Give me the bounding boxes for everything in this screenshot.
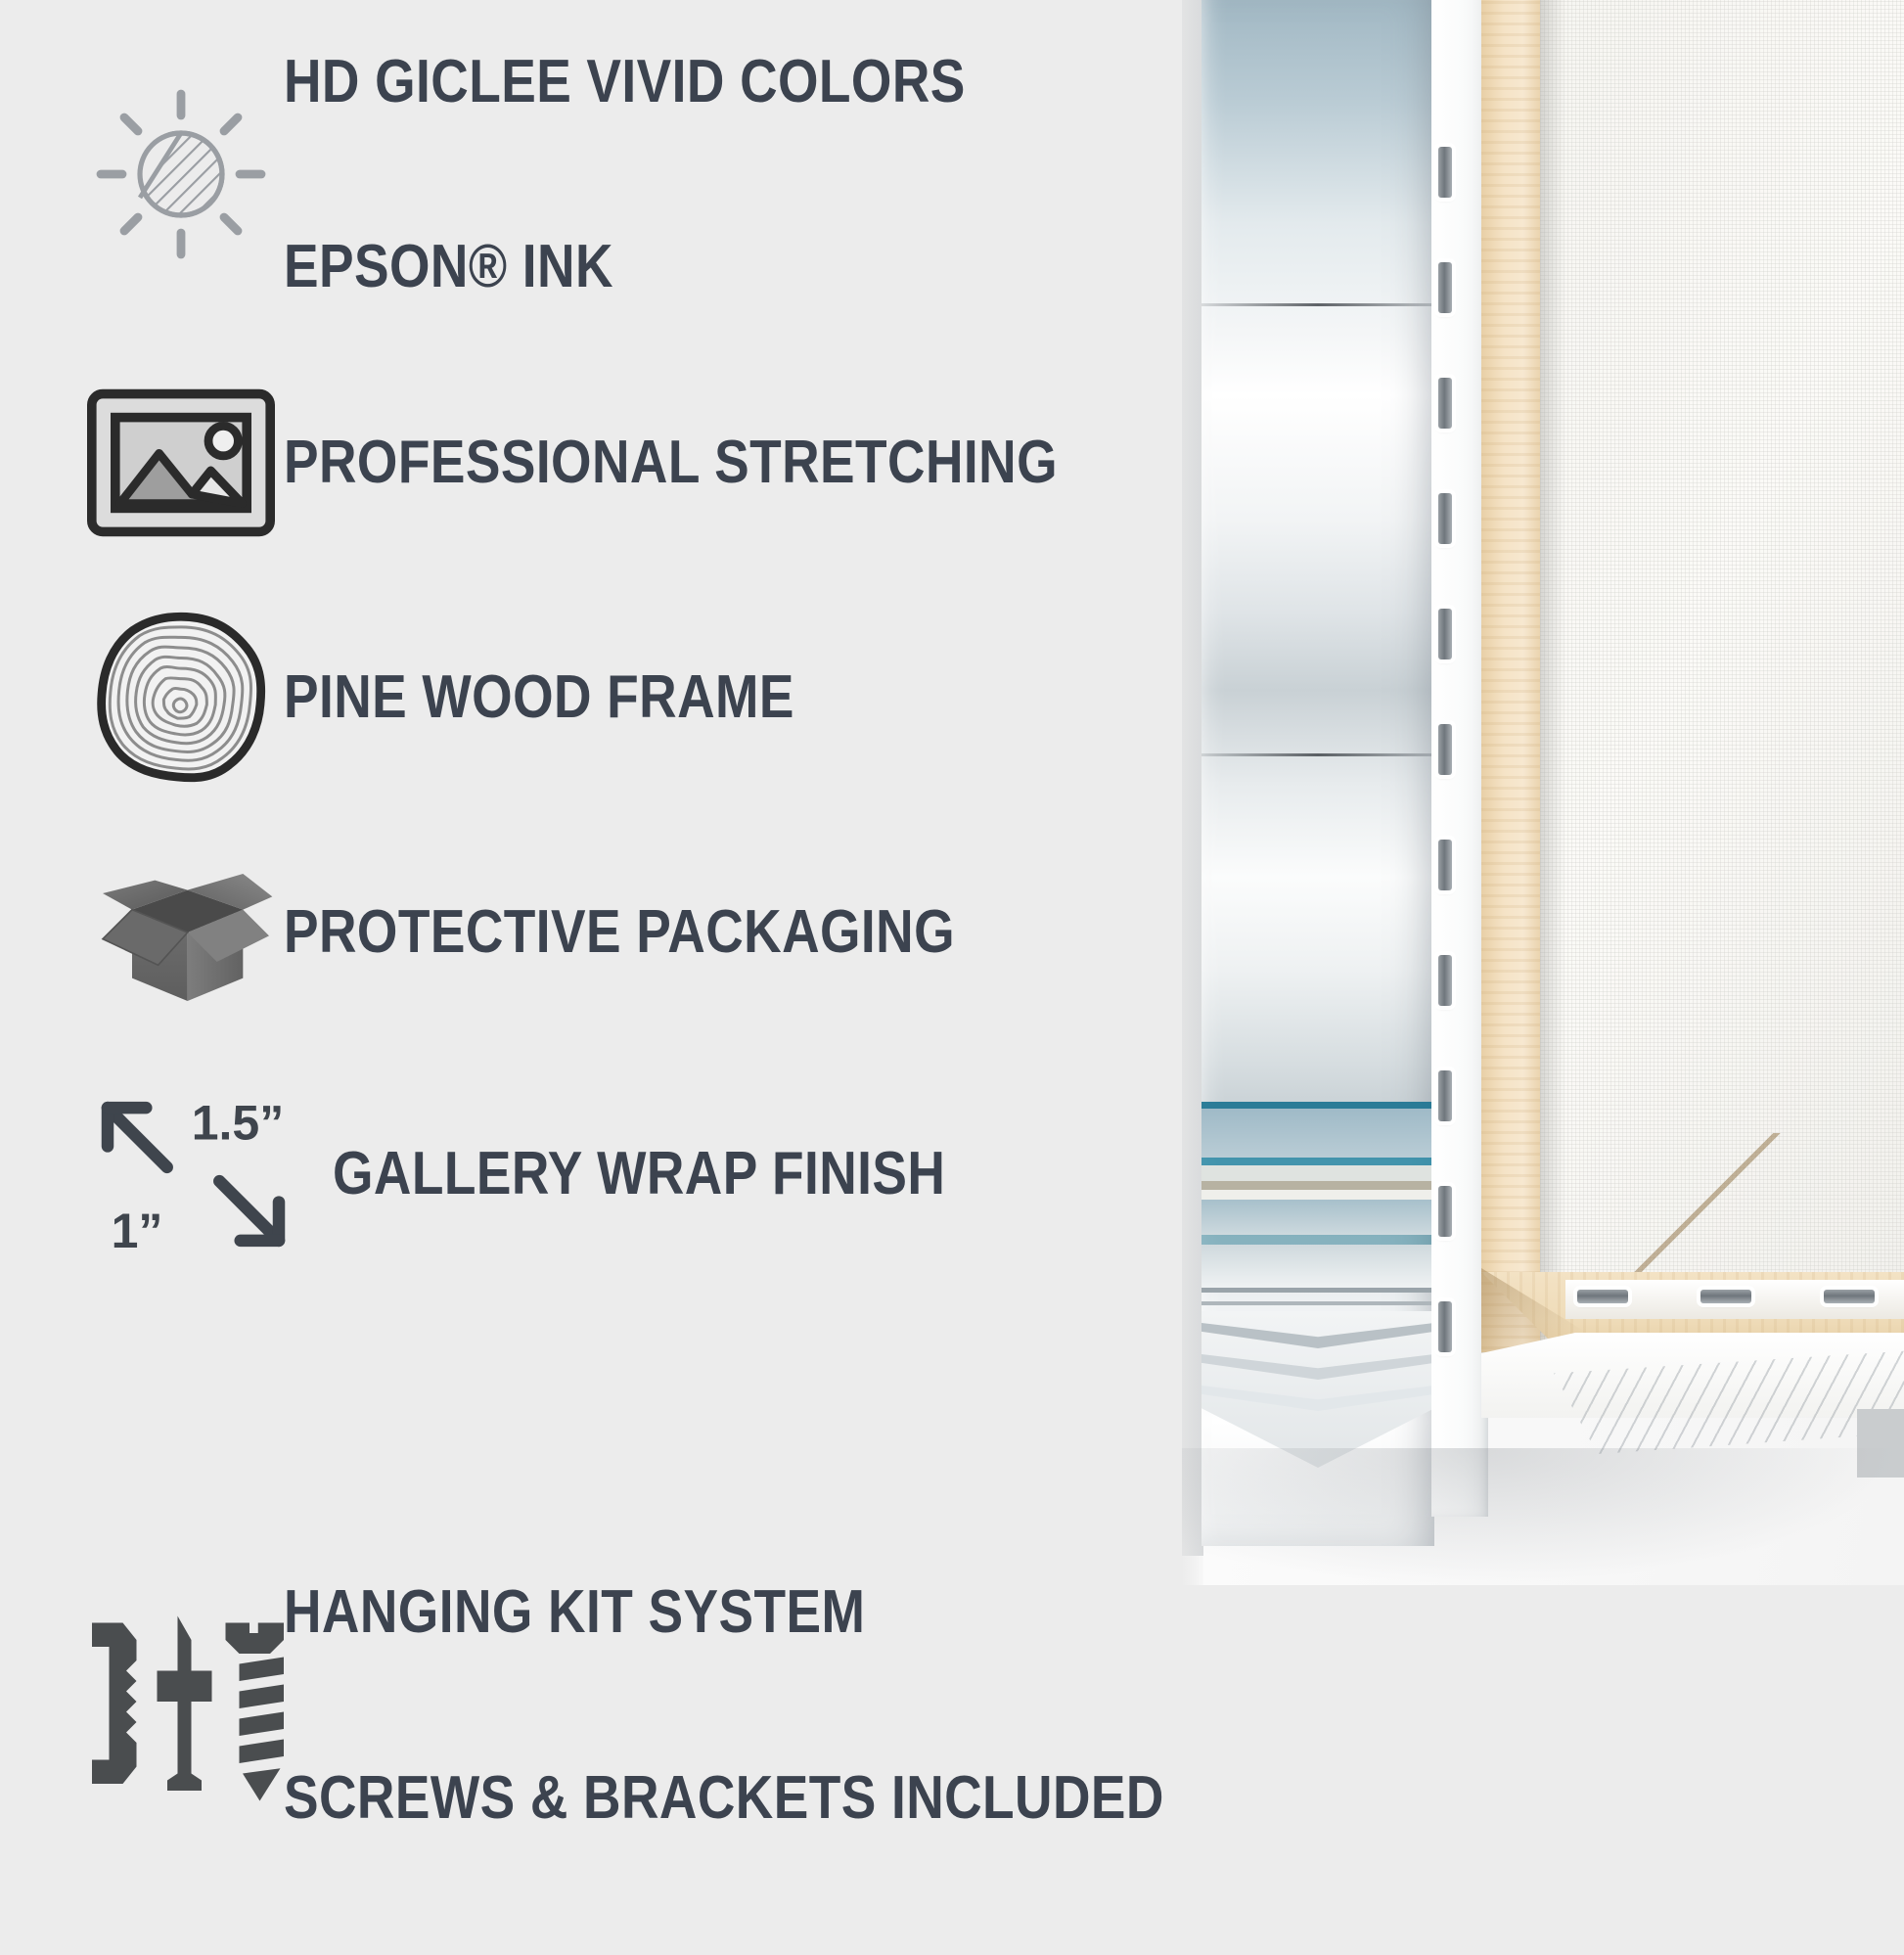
hanging-hardware-icon [78,1600,284,1810]
feature-protective-packaging: PROTECTIVE PACKAGING [78,827,1065,1037]
print-band-tan [1201,1181,1434,1190]
feature-gallery-wrap-finish-label: GALLERY WRAP FINISH [333,1020,945,1329]
print-band-light-2 [1201,1190,1434,1200]
print-band-grey-1 [1201,1288,1434,1293]
open-box-icon [78,849,284,1016]
print-band-blue-1 [1201,1109,1434,1158]
feature-pine-wood-frame: PINE WOOD FRAME [78,595,878,800]
depth-top-value: 1.5” [192,1095,285,1150]
wood-ring-icon [78,612,284,784]
print-band-light-1 [1201,1165,1434,1181]
canvas-fold-seam-top [1201,303,1434,306]
staple [1438,378,1452,429]
staple [1824,1290,1875,1303]
photo-bottom-shadow [1182,1448,1904,1585]
staple [1438,955,1452,1006]
feature-gallery-wrap-finish: 1.5” 1” GALLERY WRAP FINISH [78,1071,1045,1277]
sun-icon [78,76,284,272]
canvas-fold-seam-bottom [1201,753,1434,756]
print-band-grey-2 [1201,1301,1434,1305]
feature-hanging-kit-label: HANGING KIT SYSTEM SCREWS & BRACKETS INC… [284,1458,1164,1953]
infographic-root: HD GICLEE VIVID COLORS EPSON® INK PROFES… [0,0,1904,1904]
picture-frame-icon [78,385,284,541]
feature-list: HD GICLEE VIVID COLORS EPSON® INK PROFES… [0,0,1184,1904]
depth-arrows-icon: 1.5” 1” [78,1086,333,1262]
canvas-drop-shadow [1182,0,1203,1556]
staple [1438,147,1452,198]
staple [1438,1301,1452,1352]
staple [1438,609,1452,659]
staple [1438,493,1452,544]
print-band-teal-2 [1201,1158,1434,1165]
print-band-light-3 [1201,1245,1434,1288]
staple [1438,724,1452,775]
print-band-blue-2 [1201,1200,1434,1235]
staple [1438,262,1452,313]
depth-bottom-value: 1” [112,1204,163,1258]
print-band-teal-3 [1201,1235,1434,1245]
feature-hanging-kit: HANGING KIT SYSTEM SCREWS & BRACKETS INC… [78,1600,1307,1810]
feature-hd-giclee: HD GICLEE VIVID COLORS EPSON® INK [78,76,1076,272]
staple [1700,1290,1751,1303]
staple [1438,840,1452,890]
staple [1438,1186,1452,1237]
feature-professional-stretching: PROFESSIONAL STRETCHING [78,360,1184,566]
staple [1577,1290,1628,1303]
print-band-teal-1 [1201,1102,1434,1109]
staple [1438,1070,1452,1121]
